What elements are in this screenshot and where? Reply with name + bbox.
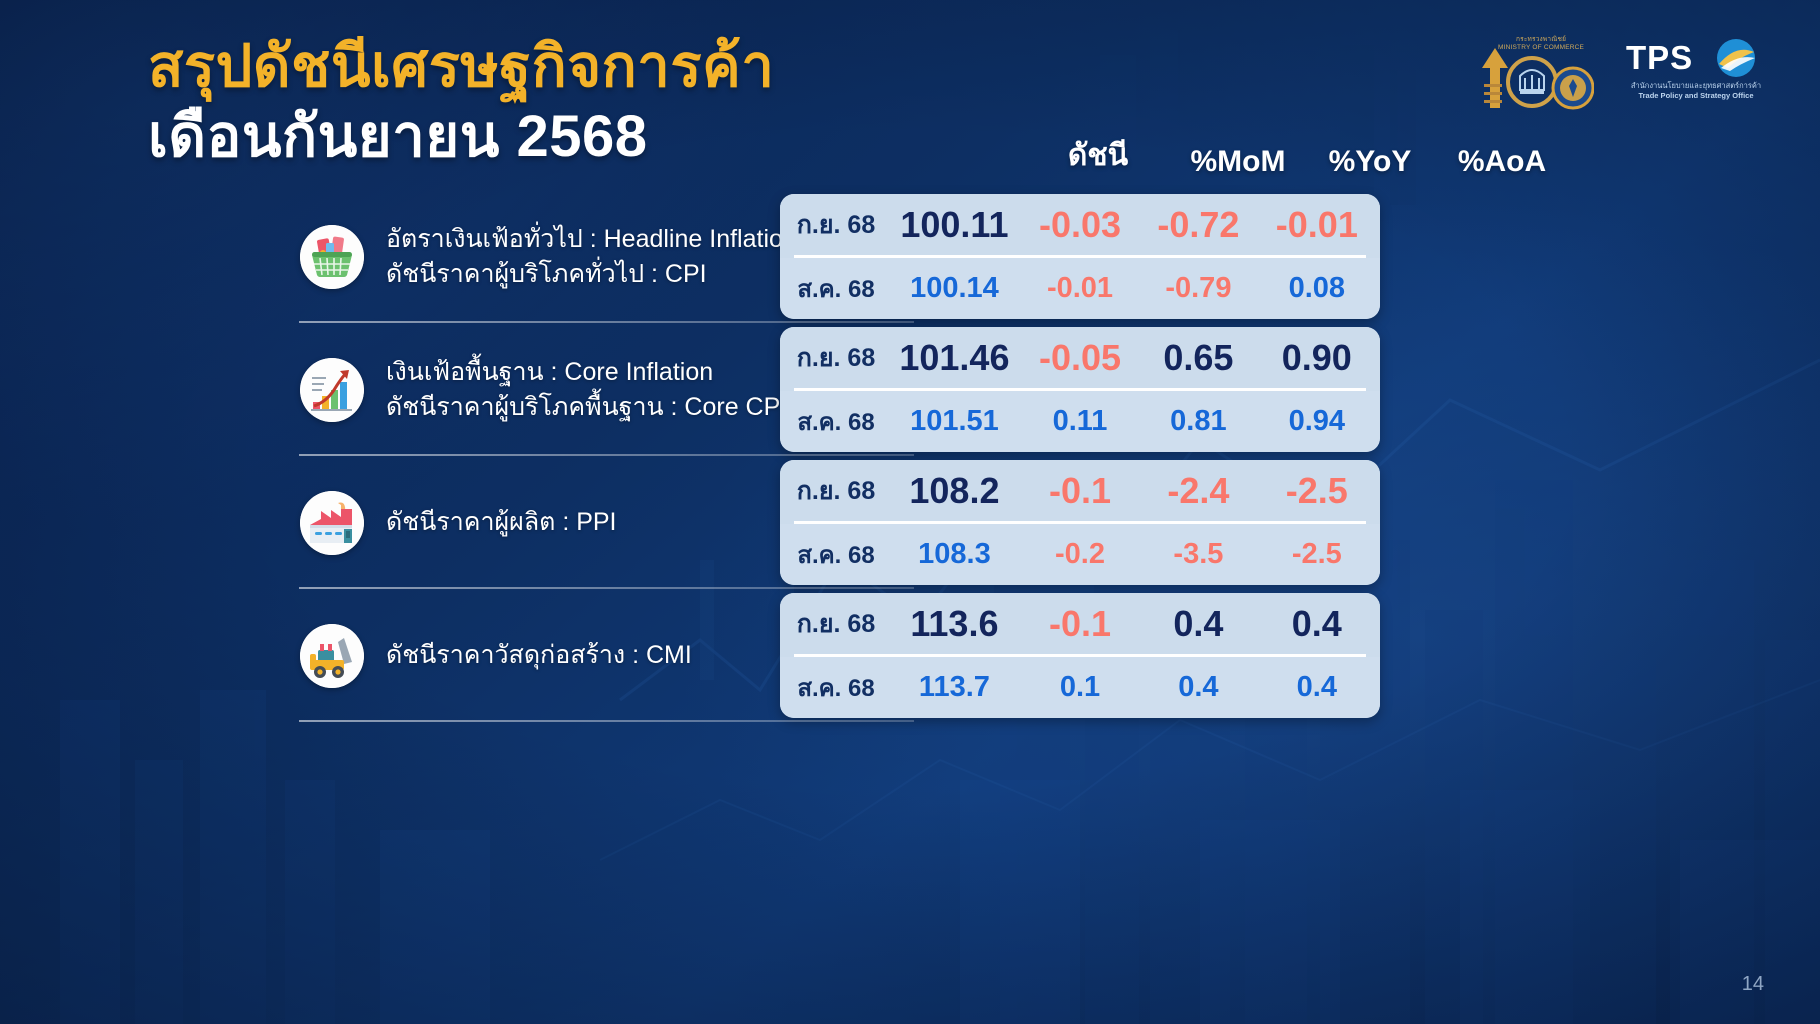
row-label-sub: ดัชนีราคาผู้บริโภคทั่วไป : CPI bbox=[386, 257, 797, 292]
cell-aoa: 0.08 bbox=[1258, 272, 1376, 305]
cell-index: 113.7 bbox=[888, 671, 1021, 704]
page-title: สรุปดัชนีเศรษฐกิจการค้า เดือนกันยายน 256… bbox=[148, 36, 774, 170]
anniversary-105-logo: กระทรวงพาณิชย์ MINISTRY OF COMMERCE bbox=[1476, 38, 1594, 112]
cell-index: 101.51 bbox=[888, 405, 1021, 438]
cell-aoa: -2.5 bbox=[1258, 470, 1376, 512]
cell-aoa: 0.4 bbox=[1258, 671, 1376, 704]
cell-index: 100.11 bbox=[888, 204, 1021, 246]
bulldozer-icon bbox=[300, 624, 364, 688]
cell-index: 101.46 bbox=[888, 337, 1021, 379]
cell-mom: -0.1 bbox=[1021, 470, 1139, 512]
cell-mom: 0.1 bbox=[1021, 671, 1139, 704]
cell-index: 100.14 bbox=[888, 272, 1021, 305]
table-row: ดัชนีราคาผู้ผลิต : PPI ก.ย. 68 108.2 -0.… bbox=[300, 456, 1580, 589]
data-row-current: ก.ย. 68 108.2 -0.1 -2.4 -2.5 bbox=[780, 460, 1380, 521]
cell-yoy: -0.79 bbox=[1139, 272, 1257, 305]
data-card: ก.ย. 68 101.46 -0.05 0.65 0.90 ส.ค. 68 1… bbox=[780, 327, 1380, 452]
data-row-current: ก.ย. 68 101.46 -0.05 0.65 0.90 bbox=[780, 327, 1380, 388]
cell-aoa: -2.5 bbox=[1258, 538, 1376, 571]
row-label-sub: ดัชนีราคาผู้บริโภคพื้นฐาน : Core CPI bbox=[386, 390, 787, 425]
cell-index: 108.2 bbox=[888, 470, 1021, 512]
column-header-yoy: %YoY bbox=[1304, 145, 1436, 179]
row-label-main: ดัชนีราคาวัสดุก่อสร้าง : CMI bbox=[386, 638, 692, 673]
cell-month: ส.ค. 68 bbox=[784, 535, 888, 574]
cell-month: ก.ย. 68 bbox=[784, 205, 888, 245]
cell-yoy: 0.81 bbox=[1139, 405, 1257, 438]
svg-text:TPS: TPS bbox=[1626, 39, 1693, 76]
cell-yoy: 0.4 bbox=[1139, 603, 1257, 645]
cell-yoy: -2.4 bbox=[1139, 470, 1257, 512]
cell-month: ส.ค. 68 bbox=[784, 269, 888, 308]
cell-month: ส.ค. 68 bbox=[784, 402, 888, 441]
table-row: อัตราเงินเฟ้อทั่วไป : Headline Inflation… bbox=[300, 190, 1580, 323]
cell-mom: -0.1 bbox=[1021, 603, 1139, 645]
cell-aoa: 0.90 bbox=[1258, 337, 1376, 379]
tpso-subtitle-th: สำนักงานนโยบายและยุทธศาสตร์การค้า bbox=[1620, 81, 1772, 91]
factory-icon bbox=[300, 491, 364, 555]
column-header-mom: %MoM bbox=[1172, 145, 1304, 179]
tpso-wordmark-mark: TPS bbox=[1620, 38, 1772, 78]
cell-yoy: -3.5 bbox=[1139, 538, 1257, 571]
data-row-previous: ส.ค. 68 113.7 0.1 0.4 0.4 bbox=[780, 657, 1380, 718]
cell-mom: -0.05 bbox=[1021, 337, 1139, 379]
logo-group: กระทรวงพาณิชย์ MINISTRY OF COMMERCE TPS bbox=[1476, 38, 1772, 112]
growth-chart-icon bbox=[300, 358, 364, 422]
title-line-1: สรุปดัชนีเศรษฐกิจการค้า bbox=[148, 36, 774, 99]
cell-month: ก.ย. 68 bbox=[784, 338, 888, 378]
table-row: เงินเฟ้อพื้นฐาน : Core Inflation ดัชนีรา… bbox=[300, 323, 1580, 456]
shopping-basket-icon bbox=[300, 225, 364, 289]
cell-aoa: -0.01 bbox=[1258, 204, 1376, 246]
cell-mom: -0.2 bbox=[1021, 538, 1139, 571]
cell-mom: -0.01 bbox=[1021, 272, 1139, 305]
cell-mom: 0.11 bbox=[1021, 405, 1139, 438]
table-row: ดัชนีราคาวัสดุก่อสร้าง : CMI ก.ย. 68 113… bbox=[300, 589, 1580, 722]
cell-aoa: 0.4 bbox=[1258, 603, 1376, 645]
tpso-subtitle-en: Trade Policy and Strategy Office bbox=[1620, 91, 1772, 101]
row-label-main: อัตราเงินเฟ้อทั่วไป : Headline Inflation bbox=[386, 222, 797, 257]
cell-mom: -0.03 bbox=[1021, 204, 1139, 246]
row-separator bbox=[299, 720, 914, 722]
row-label-main: ดัชนีราคาผู้ผลิต : PPI bbox=[386, 505, 617, 540]
column-header-index: ดัชนี bbox=[1024, 132, 1172, 179]
data-row-current: ก.ย. 68 113.6 -0.1 0.4 0.4 bbox=[780, 593, 1380, 654]
data-row-previous: ส.ค. 68 101.51 0.11 0.81 0.94 bbox=[780, 391, 1380, 452]
row-label-main: เงินเฟ้อพื้นฐาน : Core Inflation bbox=[386, 355, 787, 390]
cell-month: ก.ย. 68 bbox=[784, 471, 888, 511]
cell-month: ก.ย. 68 bbox=[784, 604, 888, 644]
cell-yoy: 0.65 bbox=[1139, 337, 1257, 379]
tpso-logo: TPS สำนักงานนโยบายและยุทธศาสตร์การค้า Tr… bbox=[1620, 38, 1772, 112]
page-number: 14 bbox=[1742, 973, 1764, 996]
cell-yoy: 0.4 bbox=[1139, 671, 1257, 704]
cell-month: ส.ค. 68 bbox=[784, 668, 888, 707]
data-row-current: ก.ย. 68 100.11 -0.03 -0.72 -0.01 bbox=[780, 194, 1380, 255]
indicator-rows: อัตราเงินเฟ้อทั่วไป : Headline Inflation… bbox=[300, 190, 1580, 722]
title-line-2: เดือนกันยายน 2568 bbox=[148, 105, 774, 170]
data-card: ก.ย. 68 113.6 -0.1 0.4 0.4 ส.ค. 68 113.7… bbox=[780, 593, 1380, 718]
data-card: ก.ย. 68 108.2 -0.1 -2.4 -2.5 ส.ค. 68 108… bbox=[780, 460, 1380, 585]
cell-aoa: 0.94 bbox=[1258, 405, 1376, 438]
data-row-previous: ส.ค. 68 100.14 -0.01 -0.79 0.08 bbox=[780, 258, 1380, 319]
data-card: ก.ย. 68 100.11 -0.03 -0.72 -0.01 ส.ค. 68… bbox=[780, 194, 1380, 319]
cell-index: 108.3 bbox=[888, 538, 1021, 571]
ministry-caption: กระทรวงพาณิชย์ MINISTRY OF COMMERCE bbox=[1498, 36, 1584, 52]
column-header-aoa: %AoA bbox=[1436, 145, 1568, 179]
table-column-headers: ดัชนี %MoM %YoY %AoA bbox=[908, 132, 1578, 179]
cell-yoy: -0.72 bbox=[1139, 204, 1257, 246]
cell-index: 113.6 bbox=[888, 603, 1021, 645]
data-row-previous: ส.ค. 68 108.3 -0.2 -3.5 -2.5 bbox=[780, 524, 1380, 585]
